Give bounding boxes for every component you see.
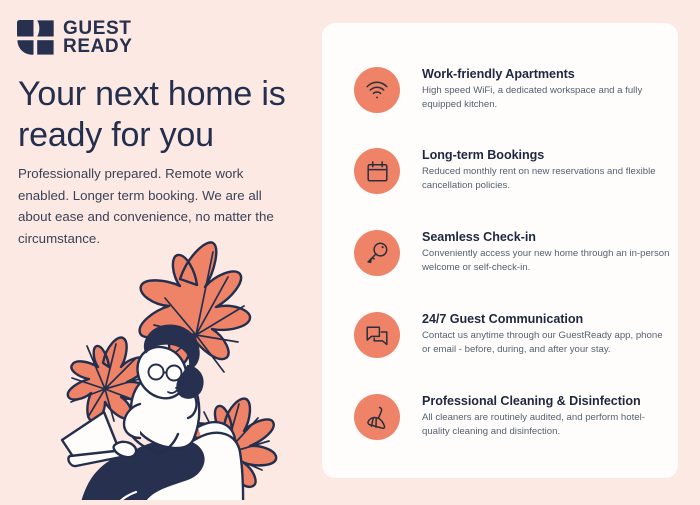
calendar-icon xyxy=(354,148,400,194)
feature-item-work-friendly-apartments: Work-friendly Apartments High speed WiFi… xyxy=(354,67,672,113)
page-title: Your next home is ready for you xyxy=(18,74,308,157)
feature-text-block: Seamless Check-in Conveniently access yo… xyxy=(422,230,672,276)
feature-description: All cleaners are routinely audited, and … xyxy=(422,411,672,439)
feature-text-block: Long-term Bookings Reduced monthly rent … xyxy=(422,148,672,194)
broom-icon xyxy=(354,394,400,440)
guestready-quadrant-logo-icon xyxy=(17,20,54,55)
chat-bubbles-icon xyxy=(354,312,400,358)
brand-wordmark: GUEST READY xyxy=(63,20,133,56)
feature-title: Work-friendly Apartments xyxy=(422,67,672,81)
feature-description: Contact us anytime through our GuestRead… xyxy=(422,329,672,357)
woman-with-laptop-illustration xyxy=(28,222,318,500)
feature-title: Seamless Check-in xyxy=(422,230,672,244)
feature-title: 24/7 Guest Communication xyxy=(422,312,672,326)
feature-description: Conveniently access your new home throug… xyxy=(422,247,672,275)
feature-item-seamless-check-in: Seamless Check-in Conveniently access yo… xyxy=(354,230,672,276)
feature-description: High speed WiFi, a dedicated workspace a… xyxy=(422,84,672,112)
brand-name-line2: READY xyxy=(63,38,133,56)
feature-item-guest-communication: 24/7 Guest Communication Contact us anyt… xyxy=(354,312,672,358)
key-icon xyxy=(354,230,400,276)
brand-logo[interactable]: GUEST READY xyxy=(17,20,133,56)
feature-text-block: Professional Cleaning & Disinfection All… xyxy=(422,394,672,440)
feature-title: Long-term Bookings xyxy=(422,148,672,162)
feature-title: Professional Cleaning & Disinfection xyxy=(422,394,672,408)
feature-item-professional-cleaning: Professional Cleaning & Disinfection All… xyxy=(354,394,672,440)
feature-text-block: 24/7 Guest Communication Contact us anyt… xyxy=(422,312,672,358)
feature-item-long-term-bookings: Long-term Bookings Reduced monthly rent … xyxy=(354,148,672,194)
features-panel: Work-friendly Apartments High speed WiFi… xyxy=(322,23,678,478)
feature-text-block: Work-friendly Apartments High speed WiFi… xyxy=(422,67,672,113)
hero-column: GUEST READY Your next home is ready for … xyxy=(0,0,322,500)
wifi-icon xyxy=(354,67,400,113)
feature-description: Reduced monthly rent on new reservations… xyxy=(422,165,672,193)
